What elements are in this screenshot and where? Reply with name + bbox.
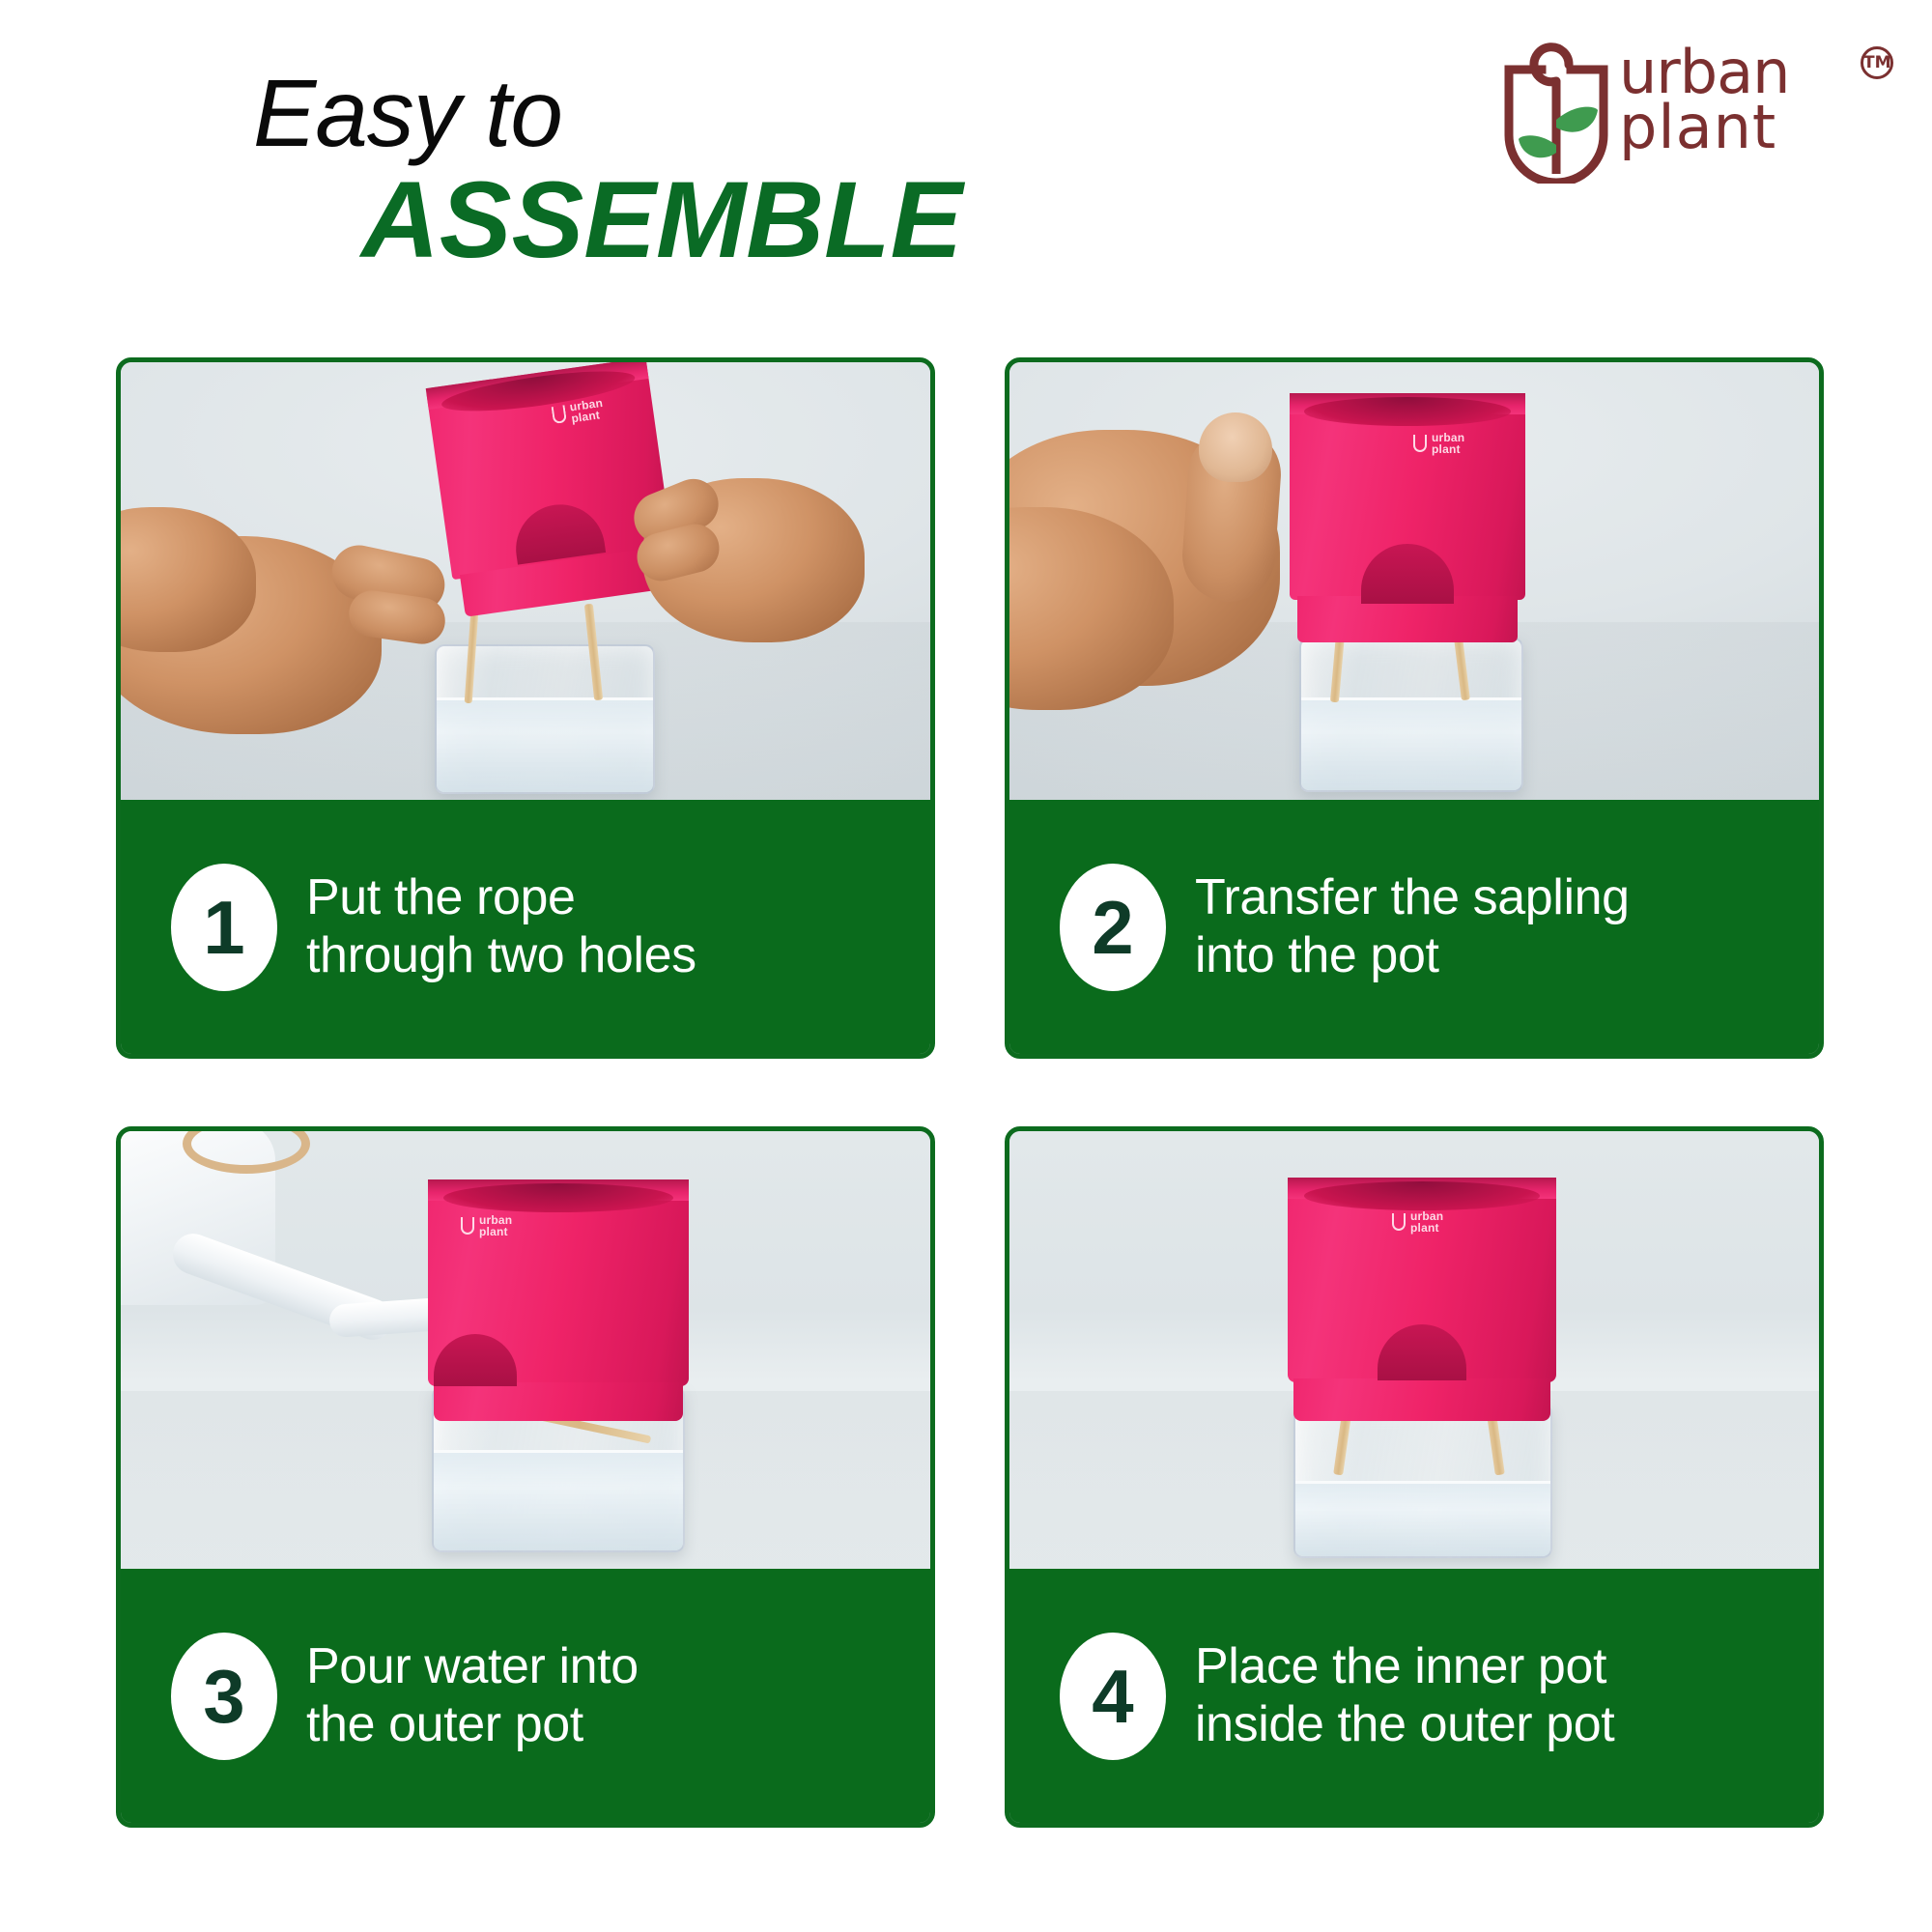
step-1-number-badge: 1 [171,864,277,991]
step-3-number: 3 [203,1659,244,1734]
step-4-caption: 4 Place the inner pot inside the outer p… [1009,1569,1819,1823]
step-1-text-line-2: through two holes [306,927,696,984]
step-3-number-badge: 3 [171,1633,277,1760]
inner-pot-4: urban plant [1288,1178,1556,1419]
shovel-sprout-icon [1499,43,1613,184]
step-4-text-line-1: Place the inner pot [1195,1638,1614,1695]
step-1-text: Put the rope through two holes [306,869,696,984]
step-4-photo: urban plant [1009,1131,1819,1578]
brand-word-plant: plant [1619,99,1880,155]
inner-pot-1: urban plant [426,362,678,614]
header: Easy to ASSEMBLE urban plant TM [0,0,1932,290]
step-card-3: urban plant 3 Pour water into the outer … [116,1126,935,1828]
step-3-text-line-2: the outer pot [306,1696,639,1753]
brand-logo: urban plant TM [1499,37,1886,186]
brand-wordmark: urban plant TM [1619,44,1880,185]
step-2-text-line-1: Transfer the sapling [1195,869,1630,926]
step-card-2: urban plant 2 T [1005,357,1824,1059]
step-2-caption: 2 Transfer the sapling into the pot [1009,800,1819,1054]
step-1-text-line-1: Put the rope [306,869,696,926]
title-line-easy-to: Easy to [253,66,1219,160]
pot-brand-logo-2: urban plant [1413,432,1464,455]
steps-grid: urban plant [116,357,1824,1828]
step-card-1: urban plant [116,357,935,1059]
pot-logo-word-plant: plant [479,1226,512,1237]
step-3-photo: urban plant [121,1131,930,1578]
step-2-photo: urban plant [1009,362,1819,810]
trademark-icon: TM [1861,46,1893,79]
pot-logo-word-plant: plant [571,409,606,425]
thumbnail-2 [1199,412,1272,482]
inner-pot-3: urban plant [428,1179,689,1421]
pot-logo-word-plant: plant [1410,1222,1443,1234]
step-1-number: 1 [203,890,244,965]
pot-brand-logo-4: urban plant [1392,1210,1443,1234]
step-2-number-badge: 2 [1060,864,1166,991]
title-line-assemble: ASSEMBLE [361,166,1219,274]
page-title: Easy to ASSEMBLE [253,66,1219,274]
step-1-photo: urban plant [121,362,930,810]
step-card-4: urban plant 4 Place the inner pot inside… [1005,1126,1824,1828]
infographic-page: Easy to ASSEMBLE urban plant TM [0,0,1932,1932]
step-4-text: Place the inner pot inside the outer pot [1195,1638,1614,1753]
step-2-number: 2 [1092,890,1133,965]
pot-logo-word-plant: plant [1432,443,1464,455]
pot-brand-logo-3: urban plant [461,1214,512,1237]
step-4-text-line-2: inside the outer pot [1195,1696,1614,1753]
outer-pot-4 [1293,1404,1552,1558]
step-4-number-badge: 4 [1060,1633,1166,1760]
step-2-text-line-2: into the pot [1195,927,1630,984]
step-2-text: Transfer the sapling into the pot [1195,869,1630,984]
step-4-number: 4 [1092,1659,1133,1734]
step-3-caption: 3 Pour water into the outer pot [121,1569,930,1823]
step-3-text: Pour water into the outer pot [306,1638,639,1753]
step-1-caption: 1 Put the rope through two holes [121,800,930,1054]
inner-pot-2: urban plant [1290,393,1525,646]
step-3-text-line-1: Pour water into [306,1638,639,1695]
